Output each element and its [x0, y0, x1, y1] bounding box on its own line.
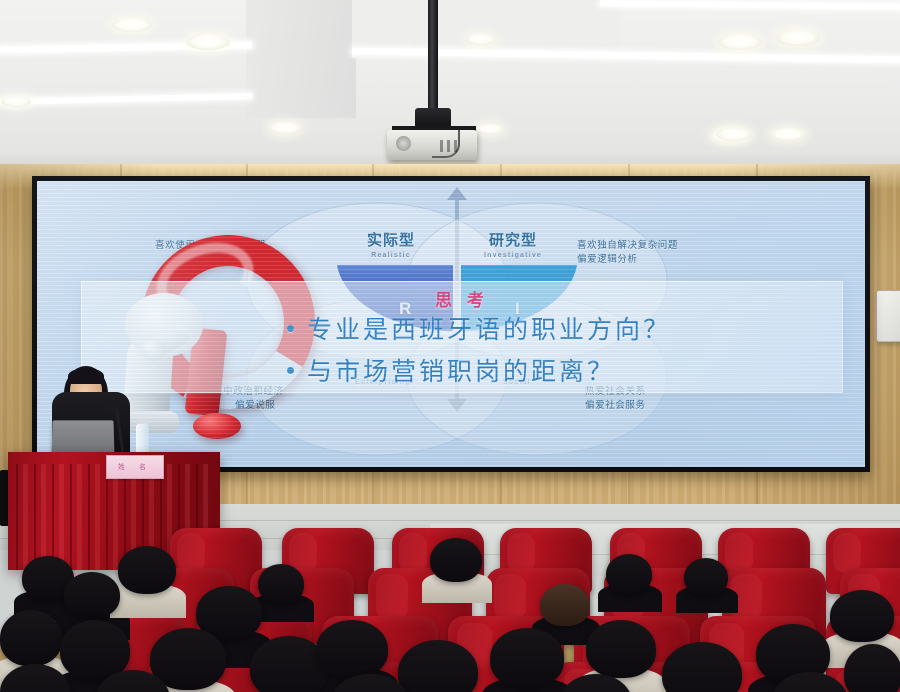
audience-member-head: [64, 572, 120, 618]
led-display-screen: R I 实际型 Realistic 研究型 Investigative Ente…: [32, 176, 870, 472]
audience-member-head: [430, 538, 482, 582]
overlay-title: 思 考: [82, 286, 842, 311]
ceiling-light-strip: [0, 93, 252, 105]
ceiling-soffit: [246, 0, 356, 118]
audience-member-head: [830, 590, 894, 642]
laptop: [52, 420, 115, 456]
quadrant-label-realistic: 实际型 Realistic: [367, 229, 415, 259]
ceiling-light-strip: [600, 0, 900, 10]
lecture-hall-photo: R I 实际型 Realistic 研究型 Investigative Ente…: [0, 0, 900, 692]
ceiling-downlight: [476, 124, 504, 134]
audience-member-head: [490, 628, 564, 688]
projector-mount: [415, 108, 451, 128]
audience-member-head: [118, 546, 176, 594]
ceiling-downlight: [1, 96, 31, 107]
audience-member-head: [586, 620, 656, 678]
list-item: 专业是西班牙语的职业方向？: [287, 310, 671, 346]
audience-member-head: [606, 554, 652, 594]
ceiling-downlight: [770, 128, 806, 141]
audience-member-head: [684, 558, 728, 596]
thinking-figure-leg: [125, 411, 179, 433]
ceiling-downlight: [268, 122, 302, 134]
ceiling-downlight: [466, 34, 496, 45]
ceiling-downlight: [112, 18, 152, 32]
presenter-name-card: 姓 名: [106, 455, 164, 479]
audience-member-head: [844, 644, 900, 692]
bullet-dot-icon: [287, 367, 294, 374]
quadrant-label-investigative: 研究型 Investigative: [484, 229, 542, 259]
ceiling-downlight: [186, 34, 230, 50]
audience-area: [0, 524, 900, 692]
water-bottle: [136, 424, 149, 454]
ceiling-downlight: [718, 34, 762, 50]
projector-pole: [428, 0, 438, 112]
list-item: 与市场营销职岗的距离？: [287, 352, 671, 388]
presenter-fringe: [68, 368, 104, 384]
audience-member-head: [316, 620, 388, 678]
audience-member-head: [0, 610, 62, 666]
bullet-dot-icon: [287, 325, 294, 332]
audience-member-head: [540, 584, 590, 626]
microphone-icon: [100, 400, 120, 409]
slide-surface: R I 实际型 Realistic 研究型 Investigative Ente…: [37, 181, 865, 467]
trait-top-right: 喜欢独自解决复杂问题 偏爱逻辑分析: [577, 239, 678, 267]
projector-cable: [432, 126, 460, 158]
overlay-question-list: 专业是西班牙语的职业方向？ 与市场营销职岗的距离？: [287, 310, 671, 394]
projector-lens-icon: [396, 136, 411, 151]
ceiling-downlight: [776, 30, 820, 46]
thinking-question-overlay: 思 考 专业是西班牙语的职业方向？ 与市场营销职岗的距离？: [81, 281, 843, 393]
question-mark-dot: [193, 413, 241, 439]
audience-member-head: [258, 564, 304, 604]
ceiling-downlight: [716, 128, 752, 141]
wall-speaker-far-right: [876, 290, 900, 342]
